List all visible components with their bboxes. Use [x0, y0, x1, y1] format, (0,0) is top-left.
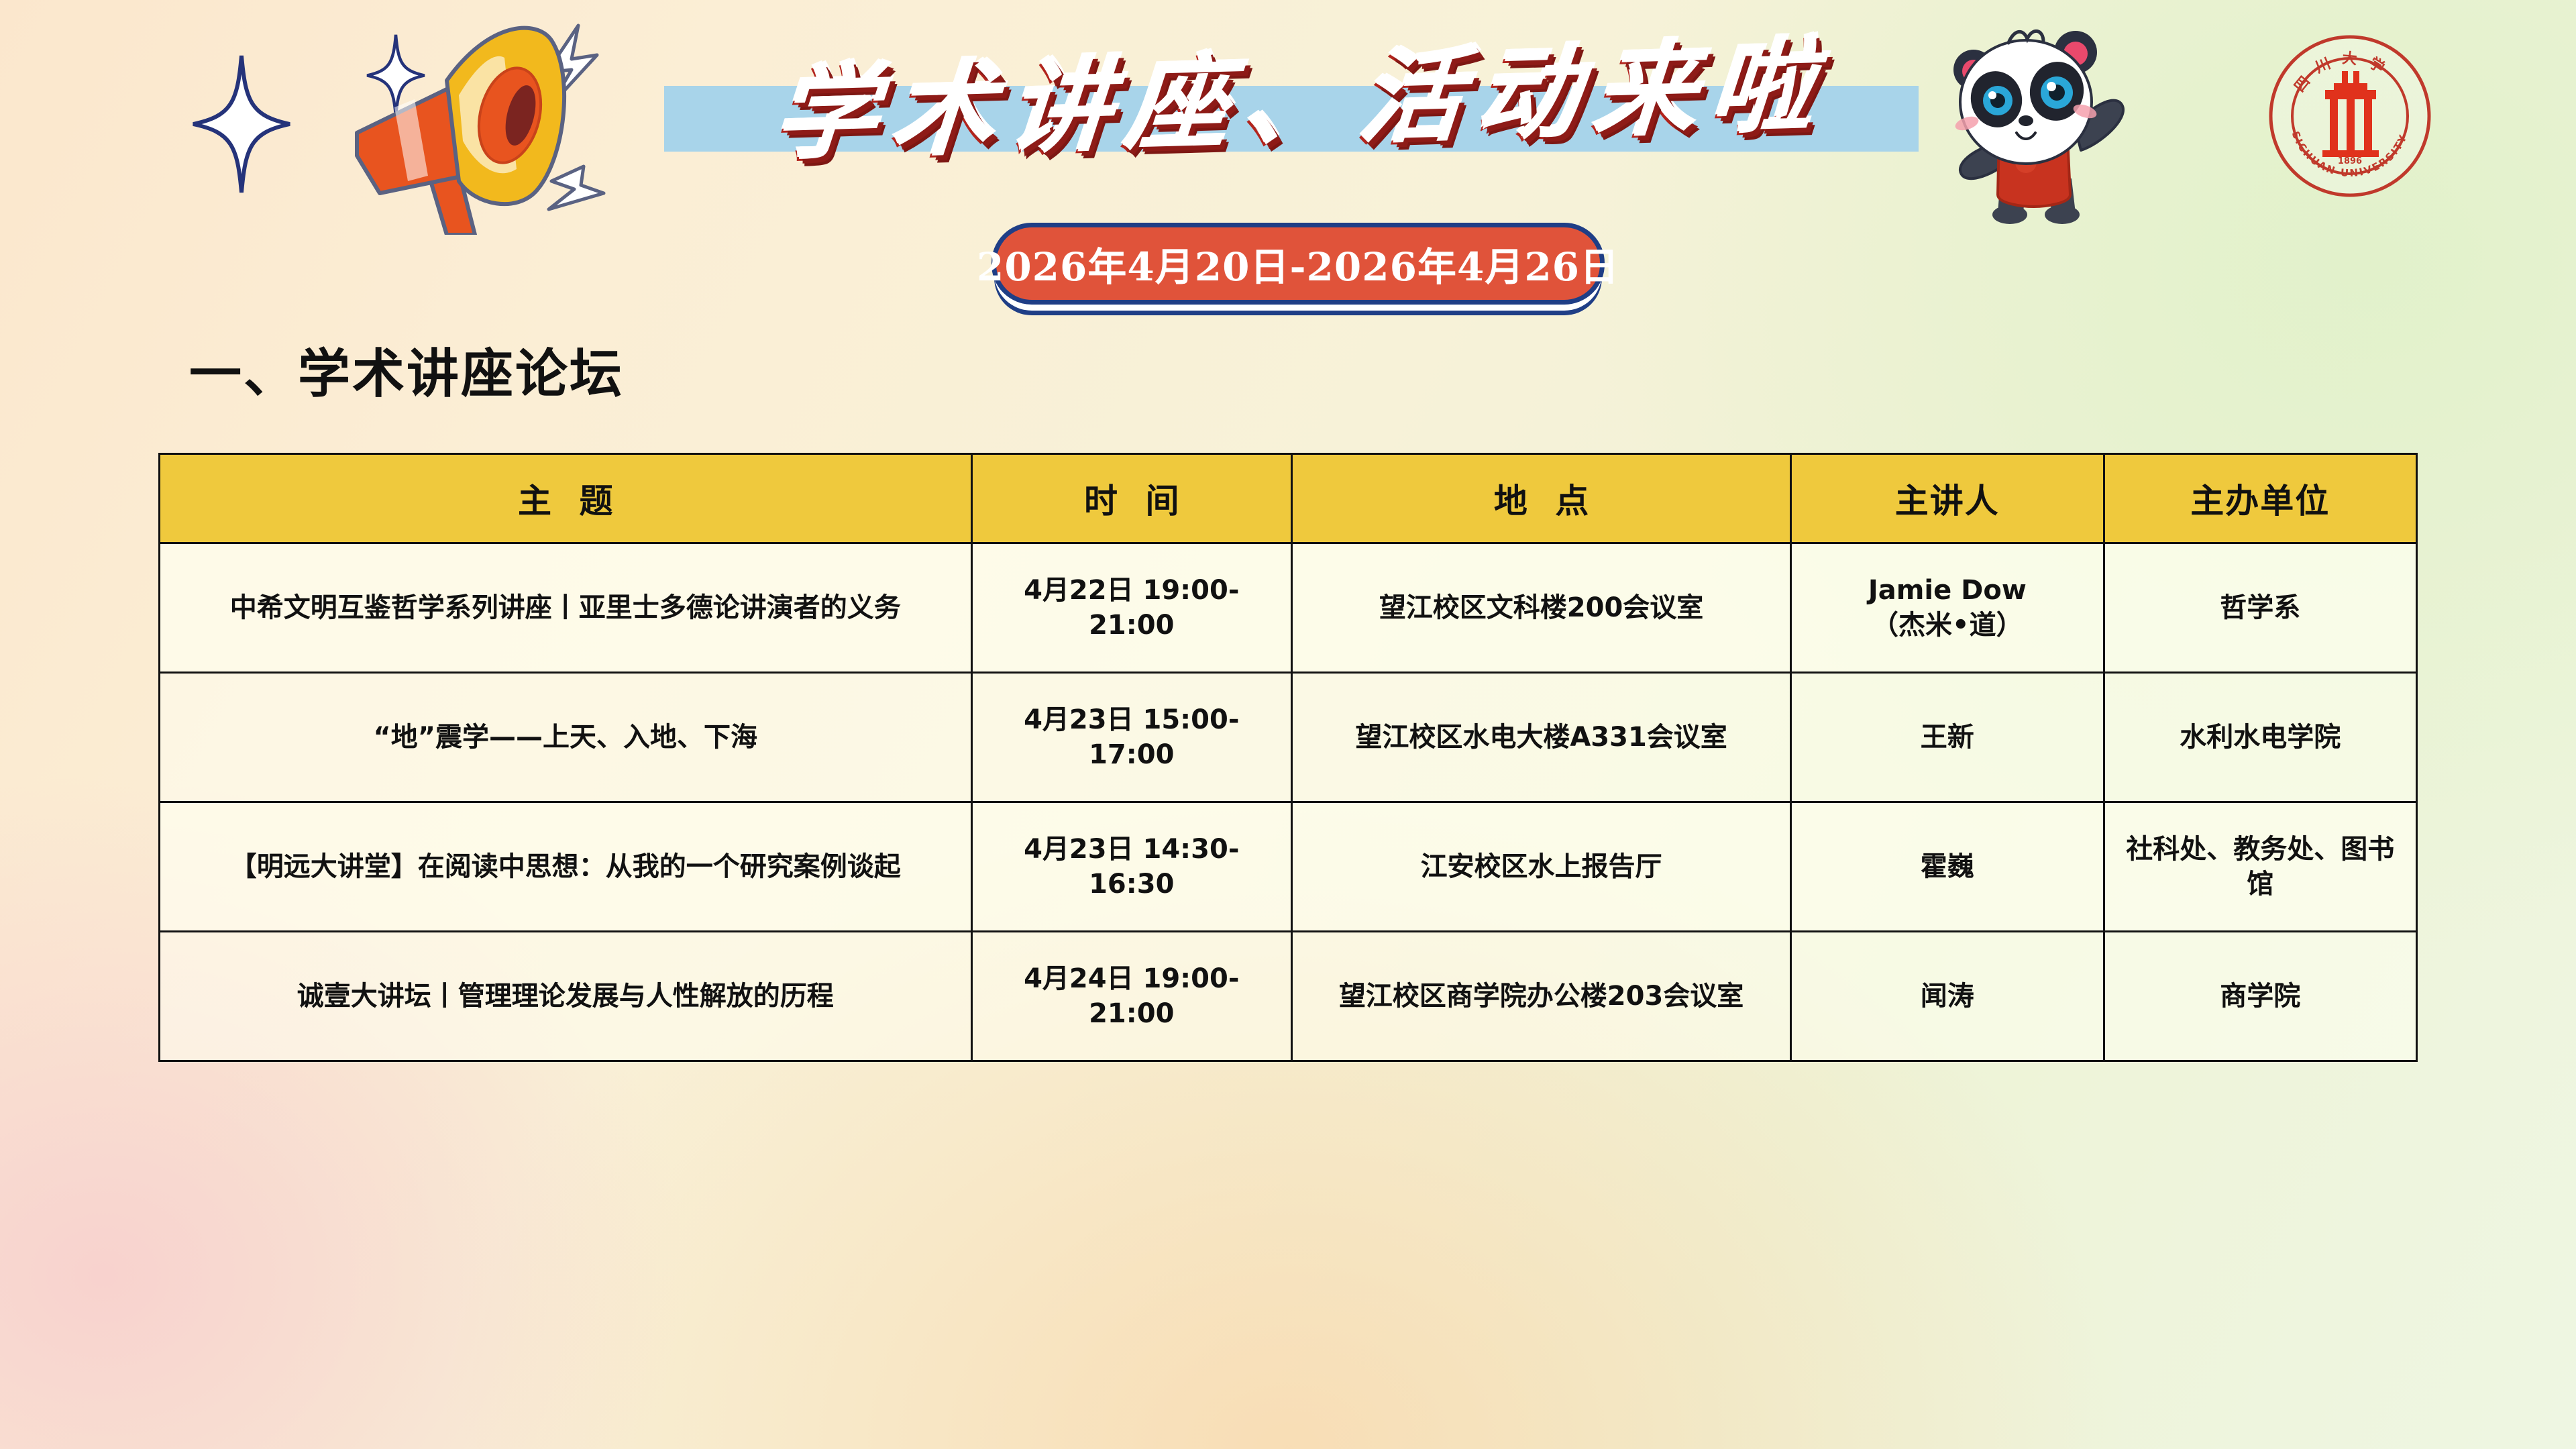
column-header-organizer: 主办单位	[2104, 454, 2416, 543]
poster-page: 1896 四川大学 SICHUAN UNIVERSITY 学术讲座、活动来啦 2…	[0, 0, 2576, 1449]
cell-speaker: 霍巍	[1791, 802, 2104, 932]
cell-speaker: 王新	[1791, 673, 2104, 802]
megaphone-icon	[315, 13, 691, 235]
table-row: 【明远大讲堂】在阅读中思想：从我的一个研究案例谈起 4月23日 14:30-16…	[160, 802, 2417, 932]
date-range-badge: 2026年4月20日-2026年4月26日	[991, 223, 1605, 305]
column-header-topic: 主 题	[160, 454, 972, 543]
sparkle-icon	[191, 54, 292, 195]
column-header-speaker: 主讲人	[1791, 454, 2104, 543]
cell-time: 4月24日 19:00-21:00	[971, 932, 1292, 1061]
panda-mascot-icon	[1925, 12, 2140, 227]
cell-place: 望江校区水电大楼A331会议室	[1292, 673, 1791, 802]
cell-place: 江安校区水上报告厅	[1292, 802, 1791, 932]
section-heading: 一、学术讲座论坛	[189, 332, 624, 407]
cell-topic: 中希文明互鉴哲学系列讲座丨亚里士多德论讲演者的义务	[160, 543, 972, 673]
column-header-time: 时 间	[971, 454, 1292, 543]
date-range-text: 2026年4月20日-2026年4月26日	[977, 235, 1619, 292]
cell-topic: 诚壹大讲坛丨管理理论发展与人性解放的历程	[160, 932, 972, 1061]
table-header-row: 主 题 时 间 地 点 主讲人 主办单位	[160, 454, 2417, 543]
title-highlight-band	[664, 86, 1919, 152]
cell-organizer: 商学院	[2104, 932, 2416, 1061]
cell-time: 4月23日 14:30-16:30	[971, 802, 1292, 932]
cell-speaker: Jamie Dow（杰米•道）	[1791, 543, 2104, 673]
cell-organizer: 社科处、教务处、图书馆	[2104, 802, 2416, 932]
cell-place: 望江校区商学院办公楼203会议室	[1292, 932, 1791, 1061]
seal-year: 1896	[2338, 156, 2362, 166]
sichuan-university-seal-icon: 1896 四川大学 SICHUAN UNIVERSITY	[2266, 32, 2434, 200]
cell-time: 4月23日 15:00-17:00	[971, 673, 1292, 802]
cell-topic: 【明远大讲堂】在阅读中思想：从我的一个研究案例谈起	[160, 802, 972, 932]
table-row: 中希文明互鉴哲学系列讲座丨亚里士多德论讲演者的义务 4月22日 19:00-21…	[160, 543, 2417, 673]
cell-time: 4月22日 19:00-21:00	[971, 543, 1292, 673]
cell-topic: “地”震学——上天、入地、下海	[160, 673, 972, 802]
cell-place: 望江校区文科楼200会议室	[1292, 543, 1791, 673]
cell-organizer: 哲学系	[2104, 543, 2416, 673]
cell-speaker: 闻涛	[1791, 932, 2104, 1061]
lecture-schedule-table: 主 题 时 间 地 点 主讲人 主办单位 中希文明互鉴哲学系列讲座丨亚里士多德论…	[158, 453, 2418, 1062]
table-row: “地”震学——上天、入地、下海 4月23日 15:00-17:00 望江校区水电…	[160, 673, 2417, 802]
column-header-place: 地 点	[1292, 454, 1791, 543]
cell-organizer: 水利水电学院	[2104, 673, 2416, 802]
table-row: 诚壹大讲坛丨管理理论发展与人性解放的历程 4月24日 19:00-21:00 望…	[160, 932, 2417, 1061]
